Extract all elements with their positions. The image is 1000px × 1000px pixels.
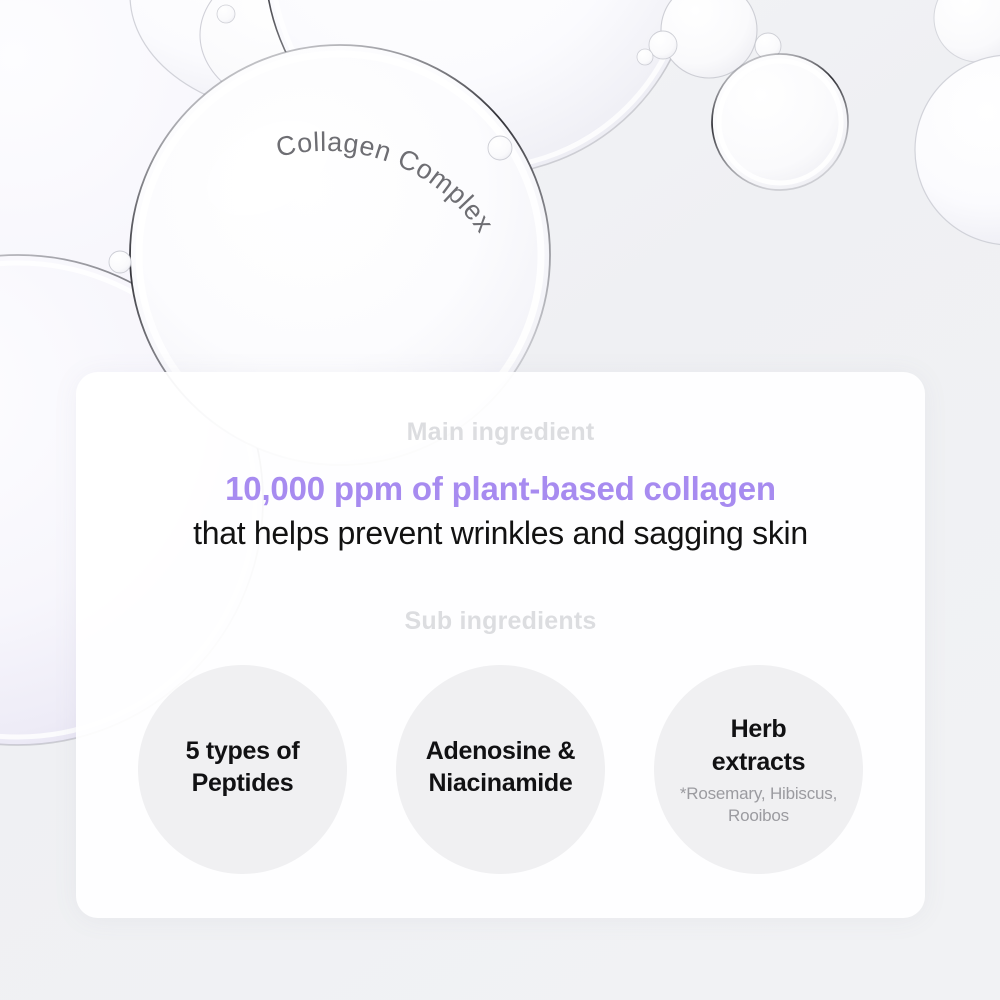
sub-ingredient-title: 5 types of Peptides xyxy=(186,735,300,800)
ingredient-info-card: Main ingredient 10,000 ppm of plant-base… xyxy=(76,372,925,918)
sub-ingredient-circle-peptides: 5 types of Peptides xyxy=(138,665,347,874)
main-ingredient-eyebrow: Main ingredient xyxy=(76,418,925,447)
sub-ingredient-circle-herb-extracts: Herb extracts *Rosemary, Hibiscus, Rooib… xyxy=(654,665,863,874)
sub-ingredient-title: Adenosine & Niacinamide xyxy=(426,735,576,800)
sub-ingredients-row: 5 types of Peptides Adenosine & Niacinam… xyxy=(76,662,925,877)
main-ingredient-subline: that helps prevent wrinkles and sagging … xyxy=(76,515,925,552)
sub-ingredient-title: Herb extracts xyxy=(712,713,806,778)
sub-ingredients-eyebrow: Sub ingredients xyxy=(76,607,925,636)
bubble-right-ring xyxy=(712,54,848,190)
sub-ingredient-circle-adenosine-niacinamide: Adenosine & Niacinamide xyxy=(396,665,605,874)
main-ingredient-headline: 10,000 ppm of plant-based collagen xyxy=(76,470,925,508)
product-infographic: Collagen Complex Main ingredient 10,000 … xyxy=(0,0,1000,1000)
sub-ingredient-note: *Rosemary, Hibiscus, Rooibos xyxy=(680,783,837,826)
